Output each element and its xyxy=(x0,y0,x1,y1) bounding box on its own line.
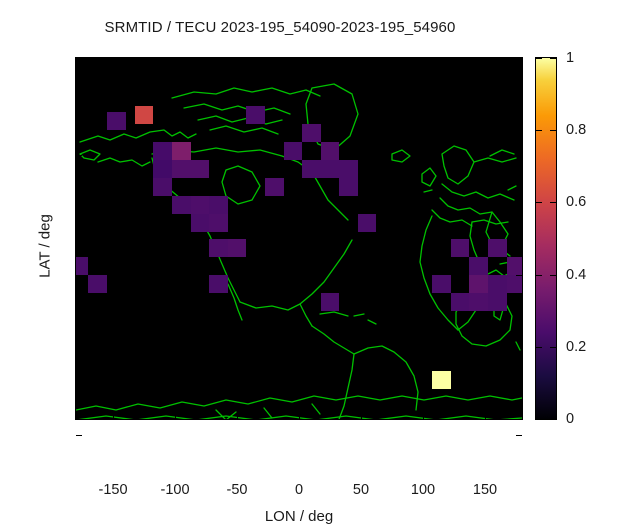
heatmap-cell xyxy=(432,275,451,293)
ytick-mark xyxy=(76,275,82,276)
xtick-mark xyxy=(299,413,300,419)
xtick-label: 150 xyxy=(450,482,520,498)
ytick-mark xyxy=(516,115,522,116)
colorbar-tick-label: 0 xyxy=(566,412,574,426)
heatmap-cell xyxy=(153,178,172,196)
ytick-mark xyxy=(516,155,522,156)
xtick-mark xyxy=(485,413,486,419)
heatmap-cell xyxy=(88,275,107,293)
heatmap-cell xyxy=(191,214,210,232)
heatmap-cell xyxy=(321,142,340,160)
colorbar-tick-label: 0.8 xyxy=(566,123,586,137)
colorbar-tick-mark xyxy=(550,347,556,348)
heatmap-cell xyxy=(469,275,488,293)
xtick-mark xyxy=(175,413,176,419)
heatmap-cell xyxy=(469,293,488,311)
colorbar-tick-label: 1 xyxy=(566,51,574,65)
heatmap-cell xyxy=(107,112,126,130)
xtick-mark xyxy=(485,58,486,64)
heatmap-cell xyxy=(228,239,247,257)
xtick-label: 0 xyxy=(264,482,334,498)
colorbar-tick-mark xyxy=(536,419,542,420)
map-canvas xyxy=(76,58,522,419)
colorbar-tick-mark xyxy=(550,130,556,131)
ytick-mark xyxy=(76,115,82,116)
xtick-mark xyxy=(423,58,424,64)
heatmap-cell xyxy=(172,196,191,214)
xtick-label: -150 xyxy=(78,482,148,498)
heatmap-cell xyxy=(172,160,191,178)
heatmap-cell xyxy=(321,293,340,311)
colorbar-tick-mark xyxy=(536,130,542,131)
colorbar-tick-mark xyxy=(550,419,556,420)
heatmap-cell xyxy=(191,196,210,214)
ytick-mark xyxy=(516,315,522,316)
xtick-mark xyxy=(299,58,300,64)
heatmap-cell xyxy=(209,239,228,257)
ytick-mark xyxy=(516,435,522,436)
xtick-label: -100 xyxy=(140,482,210,498)
page-title: SRMTID / TECU 2023-195_54090-2023-195_54… xyxy=(0,19,560,36)
colorbar-tick-mark xyxy=(550,275,556,276)
heatmap-cell xyxy=(246,106,265,124)
colorbar-tick-mark xyxy=(550,58,556,59)
xtick-mark xyxy=(237,58,238,64)
xtick-mark xyxy=(361,58,362,64)
xtick-mark xyxy=(361,413,362,419)
colorbar-tick-mark xyxy=(536,347,542,348)
heatmap-cell xyxy=(469,257,488,275)
heatmap-cell xyxy=(339,178,358,196)
ytick-mark xyxy=(76,355,82,356)
heatmap-cell xyxy=(265,178,284,196)
ytick-mark xyxy=(516,395,522,396)
heatmap-cell xyxy=(135,106,154,124)
heatmap-cell xyxy=(488,293,507,311)
colorbar: 0 0.2 0.4 0.6 0.8 1 xyxy=(535,57,557,420)
heatmap-cell xyxy=(209,275,228,293)
colorbar-gradient xyxy=(536,58,556,419)
heatmap-cell xyxy=(488,239,507,257)
ytick-mark xyxy=(516,355,522,356)
ytick-mark xyxy=(76,435,82,436)
colorbar-tick-label: 0.4 xyxy=(566,268,586,282)
xtick-mark xyxy=(237,413,238,419)
heatmap-cell xyxy=(321,160,340,178)
ytick-mark xyxy=(76,235,82,236)
ytick-mark xyxy=(516,195,522,196)
heatmap-cell xyxy=(507,275,523,293)
heatmap-cells xyxy=(76,58,522,419)
heatmap-cell xyxy=(451,293,470,311)
xtick-mark xyxy=(113,413,114,419)
xtick-mark xyxy=(175,58,176,64)
heatmap-cell xyxy=(432,371,451,389)
ytick-mark xyxy=(516,235,522,236)
heatmap-cell xyxy=(451,239,470,257)
heatmap-cell xyxy=(76,257,88,275)
y-axis-label: LAT / deg xyxy=(37,214,54,278)
heatmap-cell xyxy=(153,142,172,160)
x-axis-label: LON / deg xyxy=(76,508,522,525)
heatmap-cell xyxy=(153,160,172,178)
xtick-mark xyxy=(113,58,114,64)
ytick-mark xyxy=(76,155,82,156)
ytick-mark xyxy=(76,395,82,396)
heatmap-cell xyxy=(172,142,191,160)
heatmap-cell xyxy=(209,214,228,232)
heatmap-cell xyxy=(209,196,228,214)
colorbar-tick-mark xyxy=(536,275,542,276)
heatmap-cell xyxy=(302,160,321,178)
heatmap-cell xyxy=(358,214,377,232)
ytick-mark xyxy=(516,275,522,276)
ytick-mark xyxy=(76,315,82,316)
xtick-mark xyxy=(423,413,424,419)
map-heatmap-axes: 80 60 40 20 0 -20 -40 -60 -80 -150 -100 … xyxy=(75,57,523,420)
colorbar-tick-mark xyxy=(550,202,556,203)
colorbar-tick-label: 0.2 xyxy=(566,340,586,354)
xtick-label: 100 xyxy=(388,482,458,498)
heatmap-cell xyxy=(339,160,358,178)
heatmap-cell xyxy=(302,124,321,142)
colorbar-tick-mark xyxy=(536,58,542,59)
xtick-label: 50 xyxy=(326,482,396,498)
colorbar-tick-label: 0.6 xyxy=(566,195,586,209)
colorbar-tick-mark xyxy=(536,202,542,203)
heatmap-cell xyxy=(284,142,303,160)
xtick-label: -50 xyxy=(202,482,272,498)
heatmap-cell xyxy=(507,257,523,275)
ytick-mark xyxy=(76,195,82,196)
heatmap-cell xyxy=(191,160,210,178)
heatmap-cell xyxy=(488,275,507,293)
